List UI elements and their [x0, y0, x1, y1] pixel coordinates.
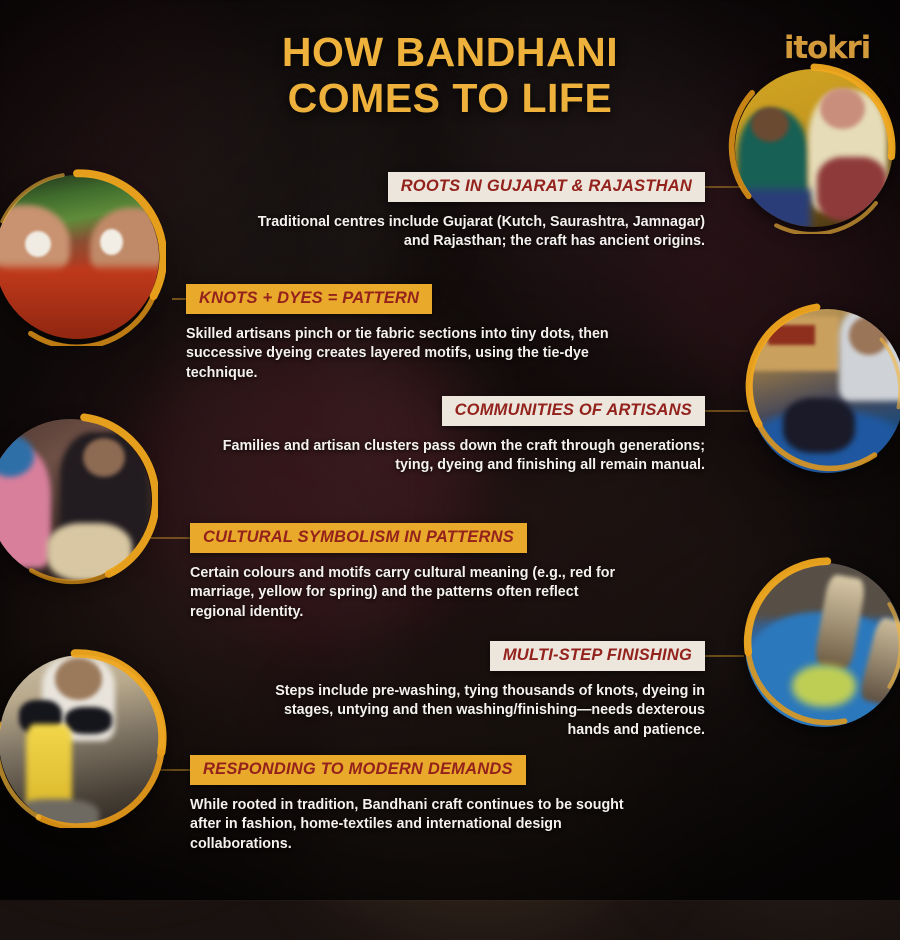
banner-wrap: RESPONDING TO MODERN DEMANDS: [190, 755, 655, 785]
section-banner-roots: ROOTS IN GUJARAT & RAJASTHAN: [388, 172, 705, 202]
content-layer: HOW BANDHANI COMES TO LIFE itokri ROOTS …: [0, 0, 900, 900]
page-title: HOW BANDHANI COMES TO LIFE: [0, 30, 900, 122]
section-banner-modern-demands: RESPONDING TO MODERN DEMANDS: [190, 755, 526, 785]
section-body-knots-dyes: Skilled artisans pinch or tie fabric sec…: [186, 325, 616, 383]
section-symbolism: CULTURAL SYMBOLISM IN PATTERNS Certain c…: [190, 523, 630, 622]
section-body-modern-demands: While rooted in tradition, Bandhani craf…: [190, 796, 655, 854]
page-title-line1: HOW BANDHANI: [282, 29, 618, 75]
section-body-roots: Traditional centres include Gujarat (Kut…: [235, 213, 705, 252]
section-body-finishing: Steps include pre-washing, tying thousan…: [265, 682, 705, 740]
section-modern-demands: RESPONDING TO MODERN DEMANDS While roote…: [190, 755, 655, 854]
section-banner-communities: COMMUNITIES OF ARTISANS: [442, 396, 705, 426]
page-title-line2: COMES TO LIFE: [0, 76, 900, 122]
section-roots: ROOTS IN GUJARAT & RAJASTHAN Traditional…: [235, 172, 705, 252]
banner-wrap: CULTURAL SYMBOLISM IN PATTERNS: [190, 523, 630, 553]
brand-logo[interactable]: itokri: [784, 30, 870, 66]
banner-wrap: ROOTS IN GUJARAT & RAJASTHAN: [235, 172, 705, 202]
section-body-symbolism: Certain colours and motifs carry cultura…: [190, 564, 630, 622]
section-body-communities: Families and artisan clusters pass down …: [200, 437, 705, 476]
section-banner-symbolism: CULTURAL SYMBOLISM IN PATTERNS: [190, 523, 527, 553]
section-knots-dyes: KNOTS + DYES = PATTERN Skilled artisans …: [186, 284, 616, 383]
section-banner-finishing: MULTI-STEP FINISHING: [490, 641, 705, 671]
banner-wrap: COMMUNITIES OF ARTISANS: [200, 396, 705, 426]
banner-wrap: MULTI-STEP FINISHING: [265, 641, 705, 671]
section-communities: COMMUNITIES OF ARTISANS Families and art…: [200, 396, 705, 476]
section-finishing: MULTI-STEP FINISHING Steps include pre-w…: [265, 641, 705, 740]
section-banner-knots-dyes: KNOTS + DYES = PATTERN: [186, 284, 432, 314]
banner-wrap: KNOTS + DYES = PATTERN: [186, 284, 616, 314]
